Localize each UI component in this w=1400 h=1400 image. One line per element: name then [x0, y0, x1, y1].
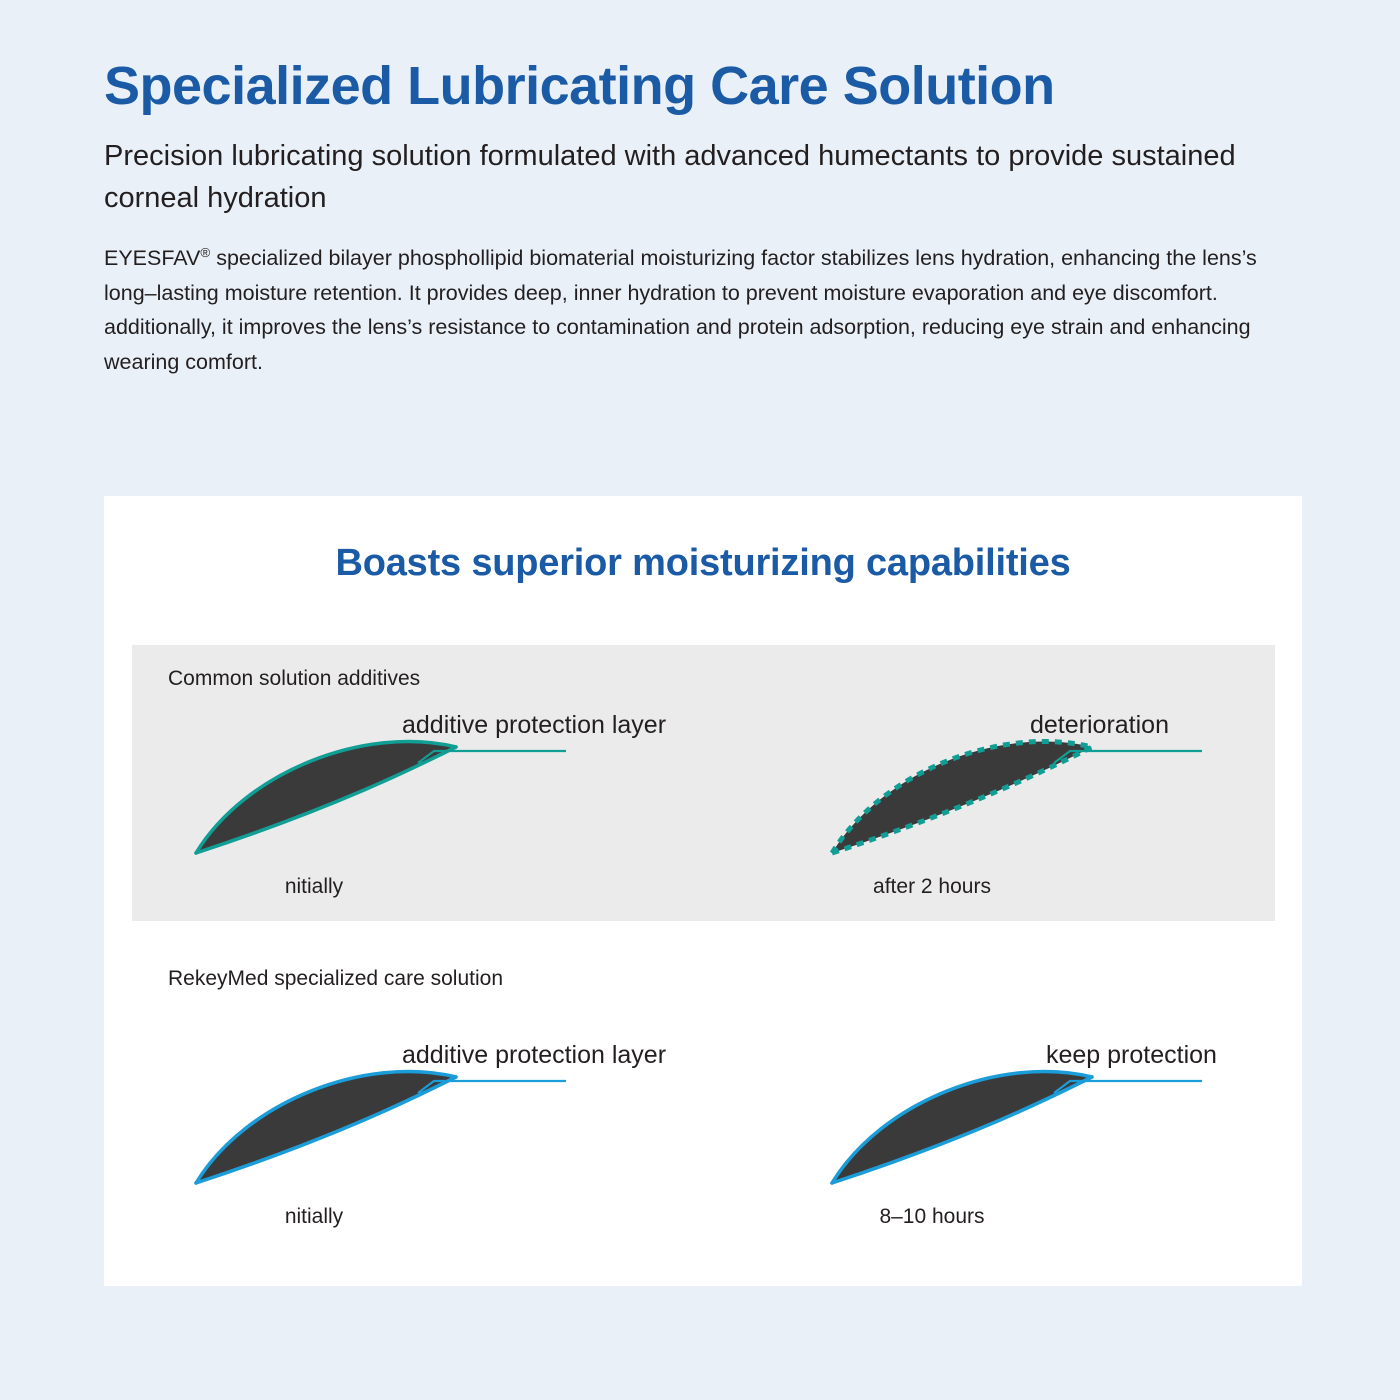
panel-label-rekeymed: RekeyMed specialized care solution — [168, 967, 503, 991]
page-body-paragraph: EYESFAV® specialized bilayer phosphollip… — [104, 241, 1304, 380]
callout-label-deterioration: deterioration — [1030, 711, 1169, 740]
figure-common-initially: additive protection layer nitially — [186, 711, 706, 911]
page-title: Specialized Lubricating Care Solution — [104, 56, 1304, 116]
panel-common-solution: Common solution additives additive prote… — [132, 645, 1275, 921]
lens-body-shape — [196, 1072, 456, 1183]
header-block: Specialized Lubricating Care Solution Pr… — [104, 56, 1304, 380]
callout-label-keep-protection: keep protection — [1046, 1041, 1217, 1070]
lens-body-shape — [832, 742, 1092, 853]
comparison-card: Boasts superior moisturizing capabilitie… — [104, 496, 1302, 1286]
panel-rekeymed-solution: RekeyMed specialized care solution addit… — [132, 945, 1275, 1257]
body-brand-name: EYESFAV — [104, 246, 200, 270]
figure-caption-initially: nitially — [144, 1205, 484, 1229]
page-subtitle: Precision lubricating solution formulate… — [104, 136, 1304, 218]
figure-caption-initially: nitially — [144, 875, 484, 899]
card-title: Boasts superior moisturizing capabilitie… — [104, 542, 1302, 585]
callout-label-protection-layer: additive protection layer — [402, 711, 666, 740]
figure-rekeymed-initially: additive protection layer nitially — [186, 1041, 706, 1241]
panel-label-common: Common solution additives — [168, 667, 420, 691]
page-root: Specialized Lubricating Care Solution Pr… — [0, 0, 1400, 1400]
callout-label-protection-layer: additive protection layer — [402, 1041, 666, 1070]
figure-common-after-2-hours: deterioration after 2 hours — [822, 711, 1342, 911]
figure-caption-after-2-hours: after 2 hours — [762, 875, 1102, 899]
registered-mark-icon: ® — [200, 245, 210, 260]
figure-rekeymed-8-10-hours: keep protection 8–10 hours — [822, 1041, 1342, 1241]
lens-body-shape — [832, 1072, 1092, 1183]
body-text: specialized bilayer phosphollipid biomat… — [104, 246, 1257, 374]
lens-body-shape — [196, 742, 456, 853]
figure-caption-8-10-hours: 8–10 hours — [762, 1205, 1102, 1229]
